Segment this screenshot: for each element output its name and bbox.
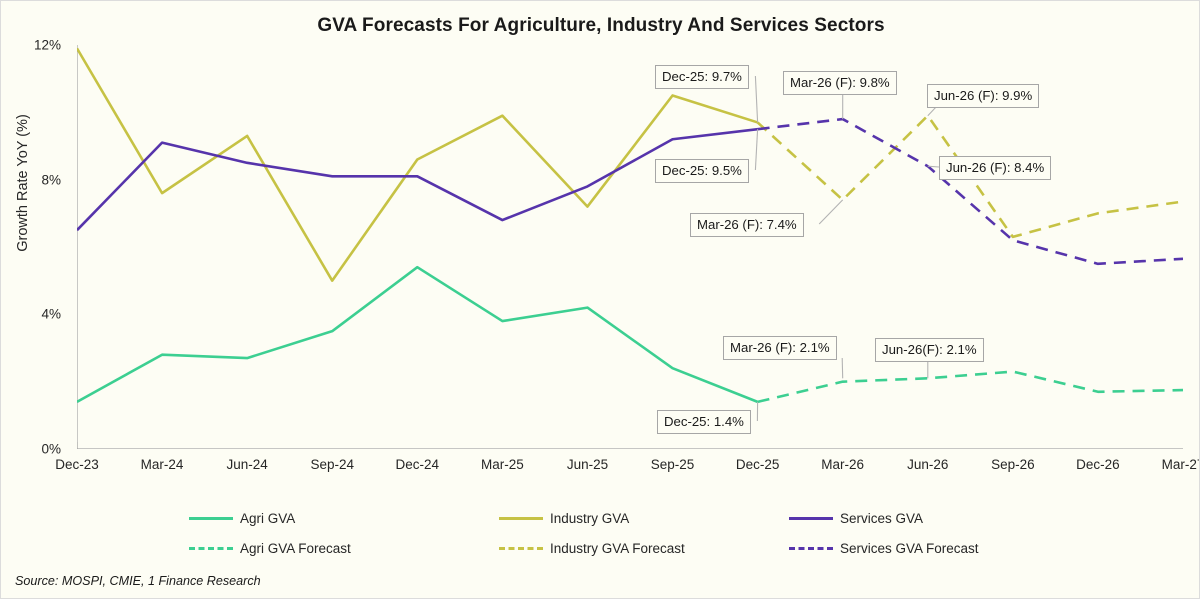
legend-label: Agri GVA (240, 511, 295, 526)
x-tick-label: Jun-25 (542, 457, 632, 472)
x-tick-label: Jun-26 (883, 457, 973, 472)
chart-title: GVA Forecasts For Agriculture, Industry … (1, 15, 1200, 37)
annotation-label-services-dec25: Dec-25: 9.5% (655, 159, 749, 183)
series-line-agri-gva-forecast (758, 372, 1183, 402)
legend-swatch-icon (789, 547, 833, 550)
legend-label: Industry GVA (550, 511, 629, 526)
x-tick-label: Mar-25 (457, 457, 547, 472)
legend-swatch-icon (499, 547, 543, 550)
series-line-services-gva-forecast (758, 119, 1183, 264)
legend-label: Services GVA Forecast (840, 541, 979, 556)
legend-swatch-icon (189, 517, 233, 520)
annotation-label-agri-mar26: Mar-26 (F): 2.1% (723, 336, 837, 360)
legend-item-agri-gva-forecast[interactable]: Agri GVA Forecast (189, 541, 351, 556)
x-tick-label: Mar-26 (798, 457, 888, 472)
x-tick-label: Sep-24 (287, 457, 377, 472)
legend-label: Industry GVA Forecast (550, 541, 685, 556)
y-tick-label: 12% (15, 38, 61, 53)
x-tick-label: Jun-24 (202, 457, 292, 472)
annotation-label-industry-mar26: Mar-26 (F): 7.4% (690, 213, 804, 237)
annotation-label-agri-jun26: Jun-26(F): 2.1% (875, 338, 984, 362)
annotation-label-industry-jun26: Jun-26 (F): 9.9% (927, 84, 1039, 108)
y-tick-label: 8% (15, 172, 61, 187)
legend-item-services-gva[interactable]: Services GVA (789, 511, 923, 526)
y-tick-label: 0% (15, 442, 61, 457)
series-line-agri-gva (77, 267, 758, 402)
x-tick-label: Sep-26 (968, 457, 1058, 472)
x-tick-label: Mar-24 (117, 457, 207, 472)
x-tick-label: Mar-27 (1138, 457, 1200, 472)
legend-label: Agri GVA Forecast (240, 541, 351, 556)
legend-item-services-gva-forecast[interactable]: Services GVA Forecast (789, 541, 979, 556)
legend-item-industry-gva-forecast[interactable]: Industry GVA Forecast (499, 541, 685, 556)
x-tick-label: Sep-25 (628, 457, 718, 472)
legend-swatch-icon (499, 517, 543, 520)
y-tick-label: 4% (15, 307, 61, 322)
source-note: Source: MOSPI, CMIE, 1 Finance Research (15, 574, 261, 588)
legend-label: Services GVA (840, 511, 923, 526)
annotation-label-industry-dec25: Dec-25: 9.7% (655, 65, 749, 89)
legend-item-industry-gva[interactable]: Industry GVA (499, 511, 629, 526)
chart-legend: Agri GVAIndustry GVAServices GVAAgri GVA… (1, 503, 1200, 565)
x-tick-label: Dec-25 (713, 457, 803, 472)
legend-swatch-icon (189, 547, 233, 550)
annotation-label-services-mar26: Mar-26 (F): 9.8% (783, 71, 897, 95)
x-tick-label: Dec-26 (1053, 457, 1143, 472)
annotation-label-agri-dec25: Dec-25: 1.4% (657, 410, 751, 434)
chart-card: GVA Forecasts For Agriculture, Industry … (0, 0, 1200, 599)
x-tick-label: Dec-23 (32, 457, 122, 472)
x-tick-label: Dec-24 (372, 457, 462, 472)
annotation-label-services-jun26: Jun-26 (F): 8.4% (939, 156, 1051, 180)
legend-swatch-icon (789, 517, 833, 520)
legend-item-agri-gva[interactable]: Agri GVA (189, 511, 295, 526)
